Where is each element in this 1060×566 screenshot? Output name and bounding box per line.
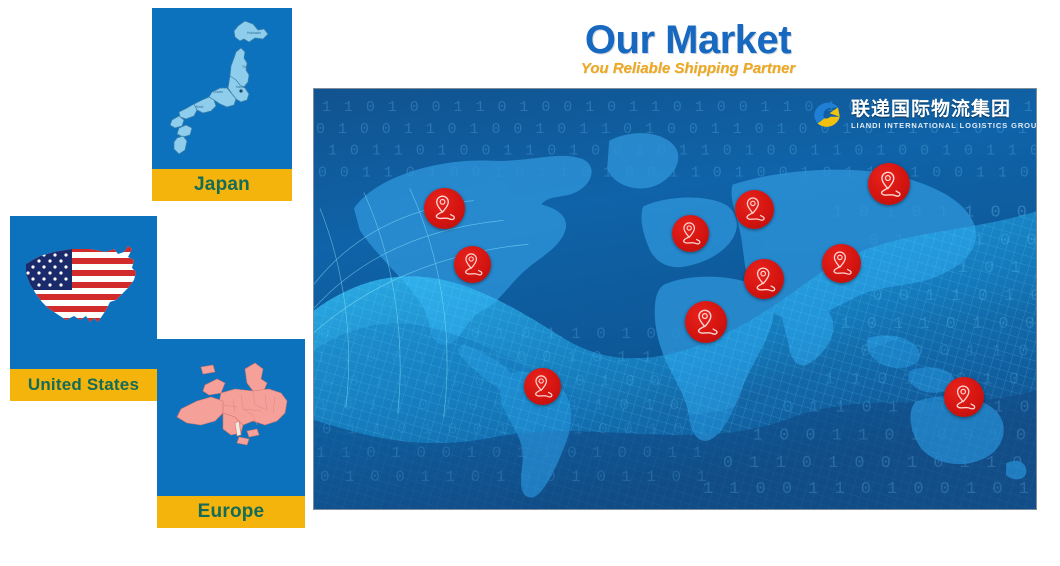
marker-north-america-central[interactable] [454, 246, 491, 283]
country-card-label-europe: Europe [157, 496, 305, 528]
location-pin-route-icon [429, 193, 459, 223]
market-panel: Our Market You Reliable Shipping Partner [313, 0, 1060, 566]
svg-text:Chubu: Chubu [213, 90, 223, 94]
marker-north-america-west[interactable] [424, 188, 465, 229]
japan-map-icon: Hokkaido Tohoku Chubu Kanto Kinki [152, 8, 292, 169]
country-card-label-japan: Japan [152, 169, 292, 201]
location-pin-route-icon [529, 373, 556, 400]
country-card-label-united-states: United States [10, 369, 157, 401]
market-slide: Hokkaido Tohoku Chubu Kanto Kinki Japan [0, 0, 1060, 566]
location-pin-route-icon [750, 265, 779, 294]
digital-world-map-background: 1 1 0 1 0 0 1 1 0 1 0 0 1 0 1 1 0 1 0 0 … [314, 89, 1036, 509]
country-card-japan[interactable]: Hokkaido Tohoku Chubu Kanto Kinki Japan [152, 8, 292, 201]
marker-europe-east[interactable] [735, 190, 774, 229]
logo-english-name: LIANDI INTERNATIONAL LOGISTICS GROUP [851, 122, 1037, 130]
circular-swoosh-logo-icon [810, 98, 844, 132]
marker-north-asia[interactable] [868, 163, 910, 205]
usa-map-container [10, 216, 157, 369]
svg-text:Kanto: Kanto [236, 85, 245, 89]
location-pin-route-icon [950, 383, 979, 412]
marker-east-asia[interactable] [822, 244, 861, 283]
location-pin-route-icon [827, 249, 855, 277]
location-pin-route-icon [677, 220, 704, 247]
europe-map-icon [157, 339, 305, 496]
marker-middle-east[interactable] [685, 301, 727, 343]
logo-chinese-name: 联递国际物流集团 [851, 100, 1037, 119]
marker-europe-west[interactable] [672, 215, 709, 252]
usa-flag-map-icon [10, 216, 157, 369]
svg-text:Kinki: Kinki [196, 105, 204, 109]
location-pin-route-icon [874, 169, 904, 199]
svg-text:1 0 1 1 0 1 0 0 1 1 0 1 0 0 1: 1 0 1 1 0 1 0 0 1 1 0 1 0 0 1 0 1 1 0 1 … [328, 144, 1036, 160]
location-pin-route-icon [691, 307, 721, 337]
company-logo[interactable]: 联递国际物流集团 LIANDI INTERNATIONAL LOGISTICS … [806, 96, 1037, 134]
marker-oceania[interactable] [944, 377, 984, 417]
location-pin-route-icon [459, 251, 486, 278]
country-card-europe[interactable]: Europe [157, 339, 305, 528]
marker-south-america[interactable] [524, 368, 561, 405]
country-card-united-states[interactable]: United States [10, 216, 157, 401]
svg-text:Tohoku: Tohoku [242, 65, 253, 69]
location-pin-route-icon [740, 195, 768, 223]
page-title: Our Market [423, 18, 953, 63]
europe-map-container [157, 339, 305, 496]
world-market-map[interactable]: 1 1 0 1 0 0 1 1 0 1 0 0 1 0 1 1 0 1 0 0 … [313, 88, 1037, 510]
japan-map-container: Hokkaido Tohoku Chubu Kanto Kinki [152, 8, 292, 169]
page-subtitle: You Reliable Shipping Partner [423, 60, 953, 77]
svg-text:Hokkaido: Hokkaido [247, 31, 261, 35]
marker-central-asia[interactable] [744, 259, 784, 299]
